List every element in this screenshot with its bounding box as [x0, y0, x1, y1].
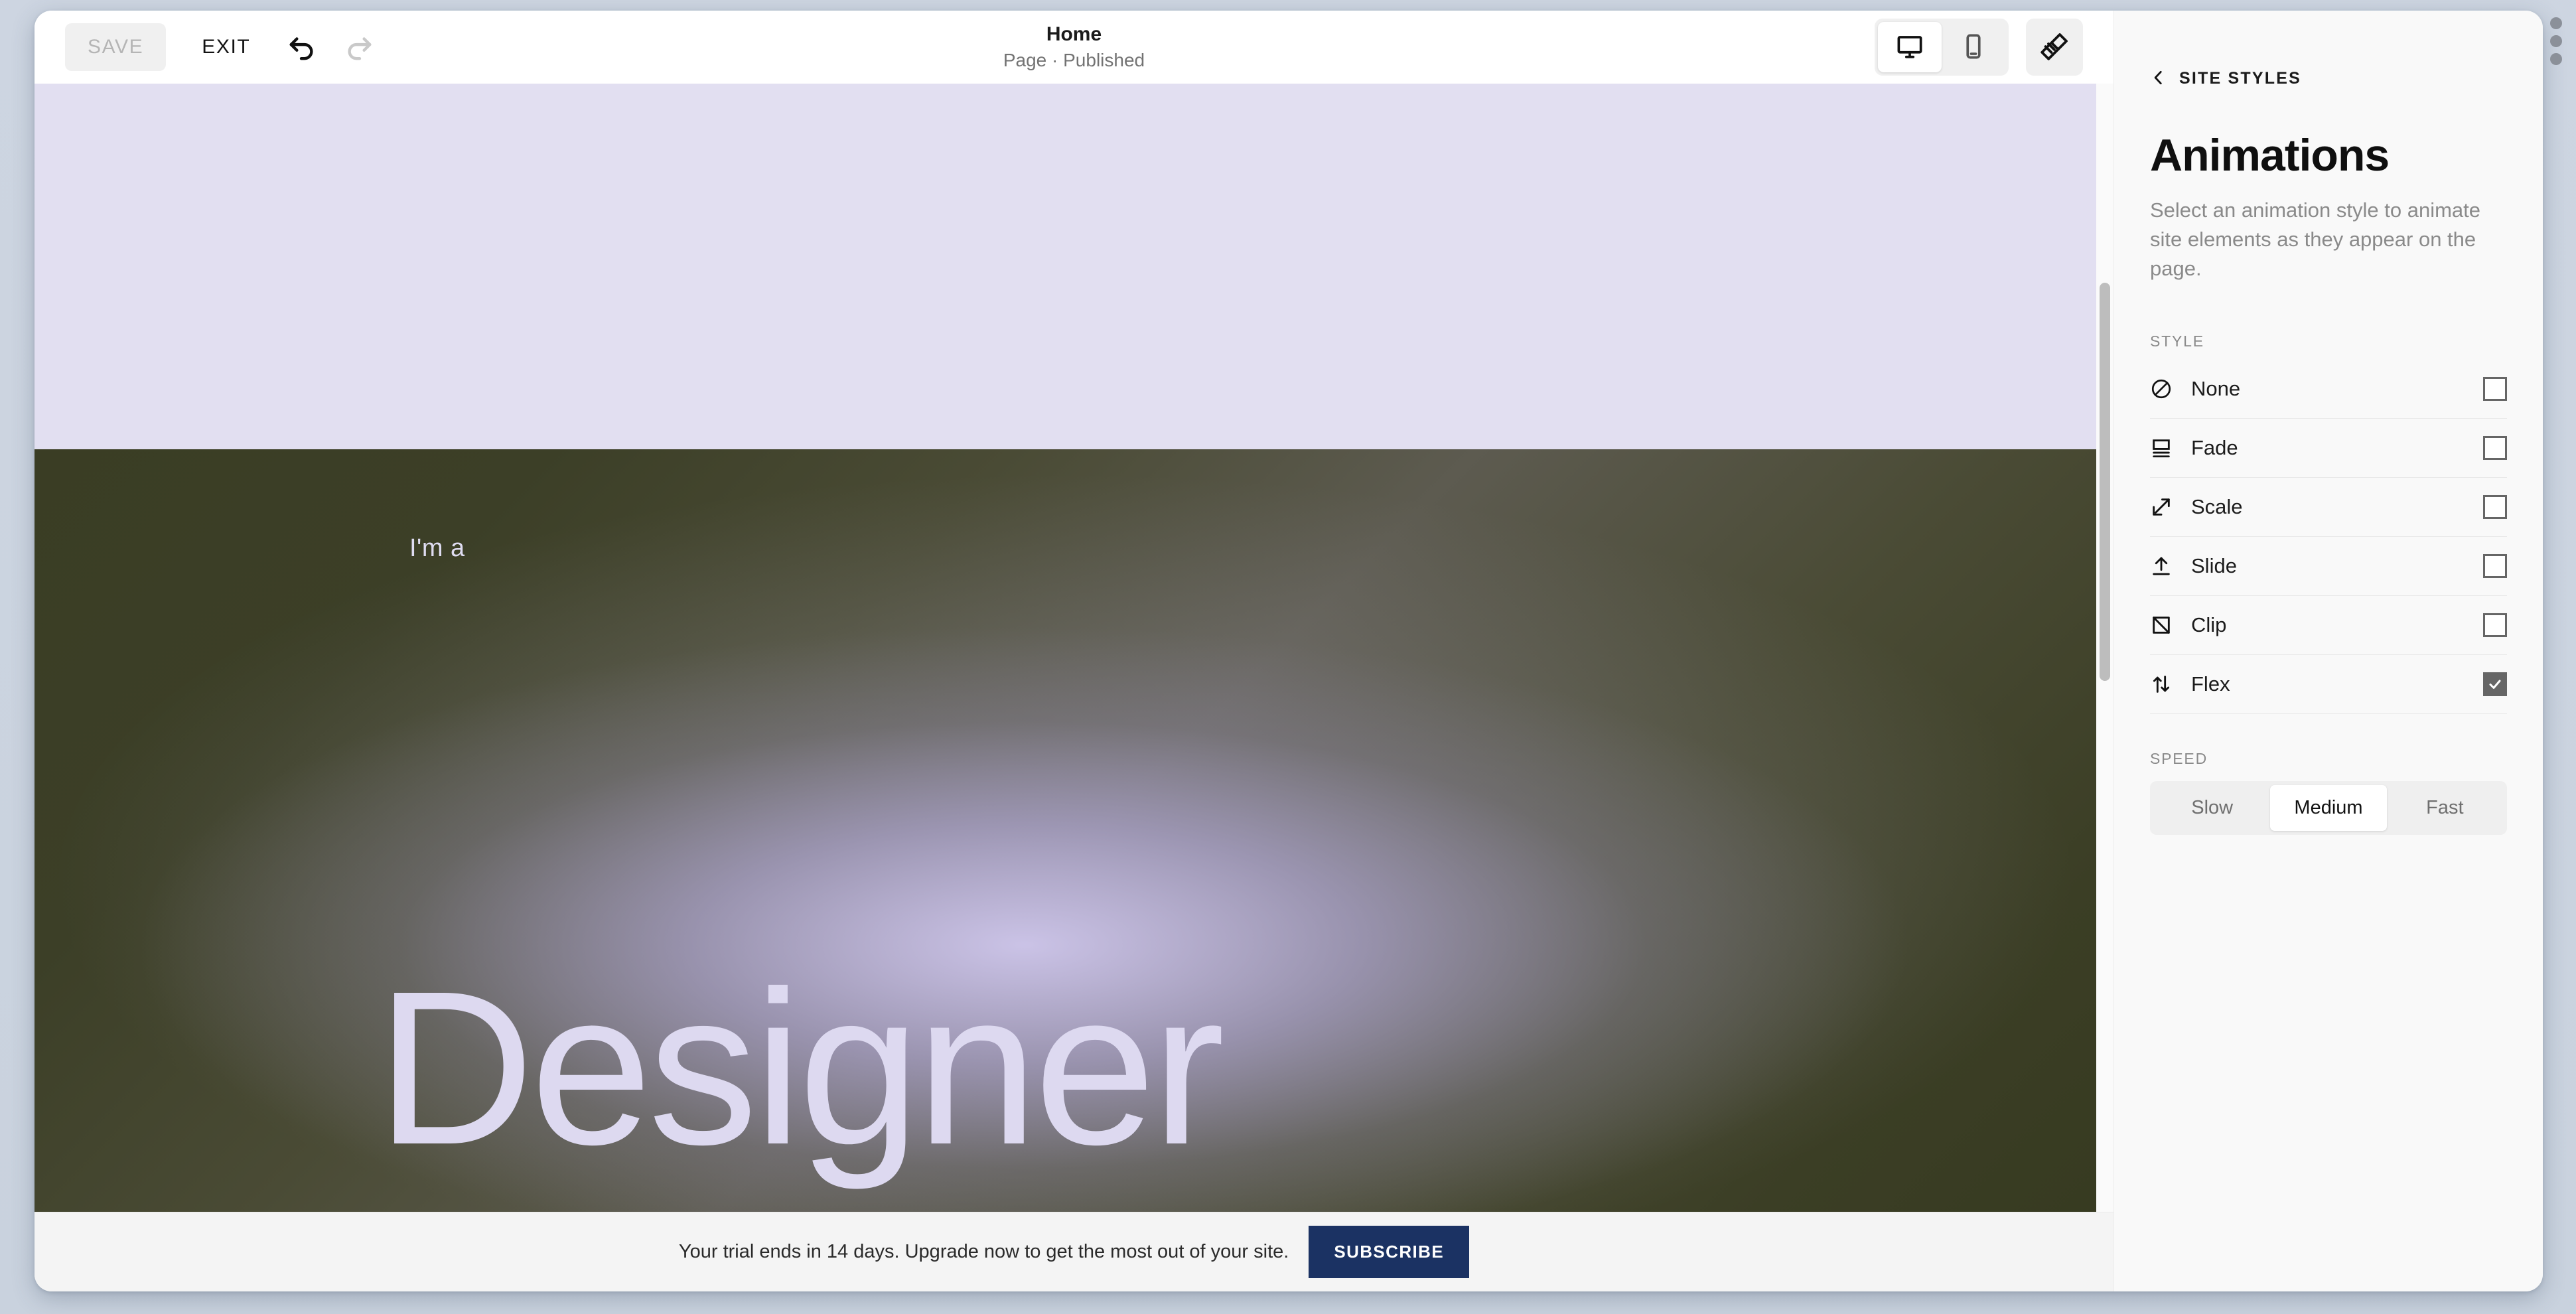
paintbrush-icon: [2039, 31, 2070, 64]
page-status: Page · Published: [1003, 48, 1145, 72]
style-checkbox-slide[interactable]: [2483, 554, 2507, 578]
animation-style-list: None Fade: [2114, 360, 2543, 714]
page-canvas[interactable]: I'm a Designer Speaker &: [35, 84, 2096, 1212]
style-checkbox-flex[interactable]: [2483, 672, 2507, 696]
mobile-view-button[interactable]: [1942, 22, 2005, 72]
desktop-backdrop: SAVE EXIT: [0, 0, 2576, 1314]
editor-toolbar: SAVE EXIT: [35, 11, 2113, 84]
trial-message: Your trial ends in 14 days. Upgrade now …: [679, 1241, 1289, 1263]
slide-up-arrow-icon: [2150, 555, 2191, 577]
site-preview-canvas: I'm a Designer Speaker &: [35, 84, 2113, 1212]
speed-section-label: SPEED: [2150, 750, 2507, 768]
redo-button[interactable]: [334, 22, 384, 72]
chevron-left-icon: [2150, 69, 2167, 88]
style-label: Clip: [2191, 613, 2483, 637]
speed-section: SPEED Slow Medium Fast: [2114, 714, 2543, 835]
speed-segmented-control: Slow Medium Fast: [2150, 781, 2507, 835]
style-option-slide[interactable]: Slide: [2150, 537, 2507, 596]
dot: [2550, 53, 2562, 65]
style-label: Fade: [2191, 436, 2483, 460]
site-styles-brush-button[interactable]: [2026, 19, 2083, 76]
back-to-site-styles-button[interactable]: SITE STYLES: [2114, 11, 2301, 88]
style-checkbox-clip[interactable]: [2483, 613, 2507, 637]
subscribe-button[interactable]: SUBSCRIBE: [1309, 1226, 1469, 1278]
editor-area: SAVE EXIT: [35, 11, 2113, 1291]
style-option-clip[interactable]: Clip: [2150, 596, 2507, 655]
style-option-fade[interactable]: Fade: [2150, 419, 2507, 478]
style-label: None: [2191, 377, 2483, 401]
style-label: Flex: [2191, 672, 2483, 696]
device-toggle: [1875, 19, 2009, 76]
fade-square-lines-icon: [2150, 437, 2191, 459]
redo-arrow-icon: [344, 31, 374, 64]
undo-button[interactable]: [277, 22, 327, 72]
speed-option-fast[interactable]: Fast: [2387, 785, 2503, 831]
dot: [2550, 17, 2562, 29]
canvas-scrollbar[interactable]: [2096, 84, 2113, 1212]
style-label: Slide: [2191, 554, 2483, 578]
style-checkbox-none[interactable]: [2483, 377, 2507, 401]
save-button[interactable]: SAVE: [65, 23, 166, 71]
style-label: Scale: [2191, 495, 2483, 519]
desktop-view-button[interactable]: [1878, 22, 1942, 72]
speed-option-slow[interactable]: Slow: [2154, 785, 2270, 831]
exit-button[interactable]: EXIT: [182, 23, 270, 71]
site-styles-panel: SITE STYLES Animations Select an animati…: [2113, 11, 2543, 1291]
mobile-phone-icon: [1960, 33, 1987, 62]
back-label: SITE STYLES: [2179, 69, 2301, 88]
style-checkbox-fade[interactable]: [2483, 436, 2507, 460]
hero-section[interactable]: I'm a Designer Speaker &: [35, 449, 2096, 1212]
panel-title: Animations: [2114, 88, 2543, 181]
page-title: Home: [1046, 22, 1102, 47]
kebab-dots-icon[interactable]: [2548, 17, 2564, 65]
dot: [2550, 35, 2562, 47]
scale-diagonal-arrow-icon: [2150, 496, 2191, 518]
trial-banner: Your trial ends in 14 days. Upgrade now …: [35, 1212, 2113, 1291]
style-option-flex[interactable]: Flex: [2150, 655, 2507, 714]
canvas-top-band: [35, 84, 2096, 449]
style-option-scale[interactable]: Scale: [2150, 478, 2507, 537]
no-entry-circle-slash-icon: [2150, 378, 2191, 400]
panel-description: Select an animation style to animate sit…: [2114, 181, 2543, 283]
undo-arrow-icon: [287, 31, 317, 64]
flex-up-down-arrows-icon: [2150, 673, 2191, 695]
desktop-monitor-icon: [1896, 33, 1924, 62]
style-checkbox-scale[interactable]: [2483, 495, 2507, 519]
hero-word-designer: Designer: [376, 974, 1221, 1162]
clip-crossed-square-icon: [2150, 614, 2191, 636]
speed-option-medium[interactable]: Medium: [2270, 785, 2386, 831]
hero-kicker: I'm a: [409, 534, 465, 563]
style-option-none[interactable]: None: [2150, 360, 2507, 419]
style-section-label: STYLE: [2114, 283, 2543, 350]
canvas-scrollbar-thumb[interactable]: [2100, 283, 2110, 681]
app-window: SAVE EXIT: [35, 11, 2543, 1291]
